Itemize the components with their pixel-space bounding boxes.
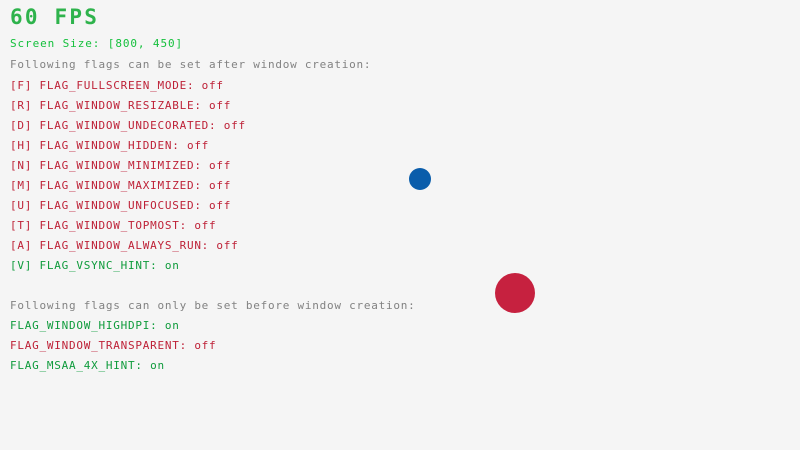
screen-size-label: Screen Size: [800, 450]: [10, 38, 183, 49]
flag-row-window-minimized[interactable]: [N] FLAG_WINDOW_MINIMIZED: off: [10, 160, 231, 171]
creation-flags-header: Following flags can only be set before w…: [10, 300, 416, 311]
flag-row-window-topmost[interactable]: [T] FLAG_WINDOW_TOPMOST: off: [10, 220, 216, 231]
flag-row-window-hidden[interactable]: [H] FLAG_WINDOW_HIDDEN: off: [10, 140, 209, 151]
flag-row-window-undecorated[interactable]: [D] FLAG_WINDOW_UNDECORATED: off: [10, 120, 246, 131]
small-blue-ball: [409, 168, 431, 190]
runtime-flags-header: Following flags can be set after window …: [10, 59, 371, 70]
flag-row-window-unfocused[interactable]: [U] FLAG_WINDOW_UNFOCUSED: off: [10, 200, 231, 211]
flag-row-msaa-4x-hint: FLAG_MSAA_4X_HINT: on: [10, 360, 165, 371]
raylib-window-flags-app: 60 FPS Screen Size: [800, 450] Following…: [0, 0, 800, 450]
flag-row-fullscreen-mode[interactable]: [F] FLAG_FULLSCREEN_MODE: off: [10, 80, 224, 91]
fps-counter: 60 FPS: [10, 7, 99, 28]
flag-row-window-transparent: FLAG_WINDOW_TRANSPARENT: off: [10, 340, 216, 351]
flag-row-window-resizable[interactable]: [R] FLAG_WINDOW_RESIZABLE: off: [10, 100, 231, 111]
flag-row-window-maximized[interactable]: [M] FLAG_WINDOW_MAXIMIZED: off: [10, 180, 231, 191]
large-red-ball: [495, 273, 535, 313]
flag-row-window-always-run[interactable]: [A] FLAG_WINDOW_ALWAYS_RUN: off: [10, 240, 239, 251]
flag-row-vsync-hint[interactable]: [V] FLAG_VSYNC_HINT: on: [10, 260, 180, 271]
flag-row-window-highdpi: FLAG_WINDOW_HIGHDPI: on: [10, 320, 180, 331]
